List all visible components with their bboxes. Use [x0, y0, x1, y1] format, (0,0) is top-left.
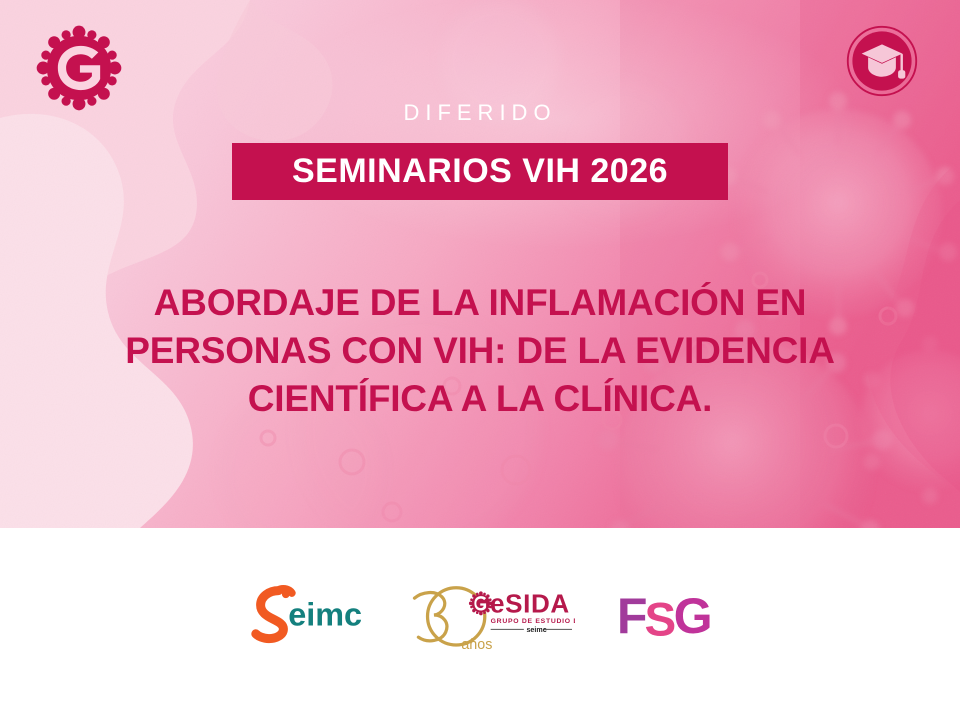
- fsg-letter-f: F: [617, 588, 648, 644]
- seimc-logo-mark: eimc: [245, 580, 365, 654]
- graduation-cap-icon[interactable]: [845, 24, 919, 98]
- gesida-anniversary-word: años: [461, 637, 492, 653]
- fsg-logo-mark: F G S: [615, 584, 715, 650]
- series-title-text: SEMINARIOS VIH 2026: [232, 143, 728, 200]
- seminar-poster: DIFERIDO SEMINARIOS VIH 2026 ABORDAJE DE…: [0, 0, 960, 720]
- gesida-virus-g-logo[interactable]: [33, 22, 125, 114]
- page-title: ABORDAJE DE LA INFLAMACIÓN EN PERSONAS C…: [50, 279, 910, 423]
- hero-banner: DIFERIDO SEMINARIOS VIH 2026 ABORDAJE DE…: [0, 0, 960, 528]
- sponsor-logo-bar: eimc años: [0, 528, 960, 720]
- page-title-line-2: PERSONAS CON VIH: DE LA EVIDENCIA: [50, 327, 910, 375]
- kicker-label: DIFERIDO: [0, 101, 960, 125]
- gesida-parent-label: seimc: [526, 626, 546, 634]
- fsg-letter-s: S: [645, 593, 677, 646]
- gesida-subtext: GRUPO DE ESTUDIO DEL SIDA: [491, 618, 575, 625]
- page-title-line-1: ABORDAJE DE LA INFLAMACIÓN EN: [50, 279, 910, 327]
- fsg-letter-g: G: [674, 588, 713, 644]
- logo-seimc[interactable]: eimc: [245, 580, 365, 654]
- logo-gesida[interactable]: años eSIDA GRUPO DE ESTUDIO DE: [405, 576, 575, 658]
- gesida-wordmark: eSIDA: [490, 588, 570, 618]
- page-title-line-3: CIENTÍFICA A LA CLÍNICA.: [50, 375, 910, 423]
- series-title-band: SEMINARIOS VIH 2026: [232, 143, 728, 200]
- hero-background-artwork: [0, 0, 960, 528]
- seimc-wordmark: eimc: [288, 596, 362, 632]
- gesida-logo-mark: años eSIDA GRUPO DE ESTUDIO DE: [405, 576, 575, 658]
- logo-fsg[interactable]: F G S: [615, 584, 715, 650]
